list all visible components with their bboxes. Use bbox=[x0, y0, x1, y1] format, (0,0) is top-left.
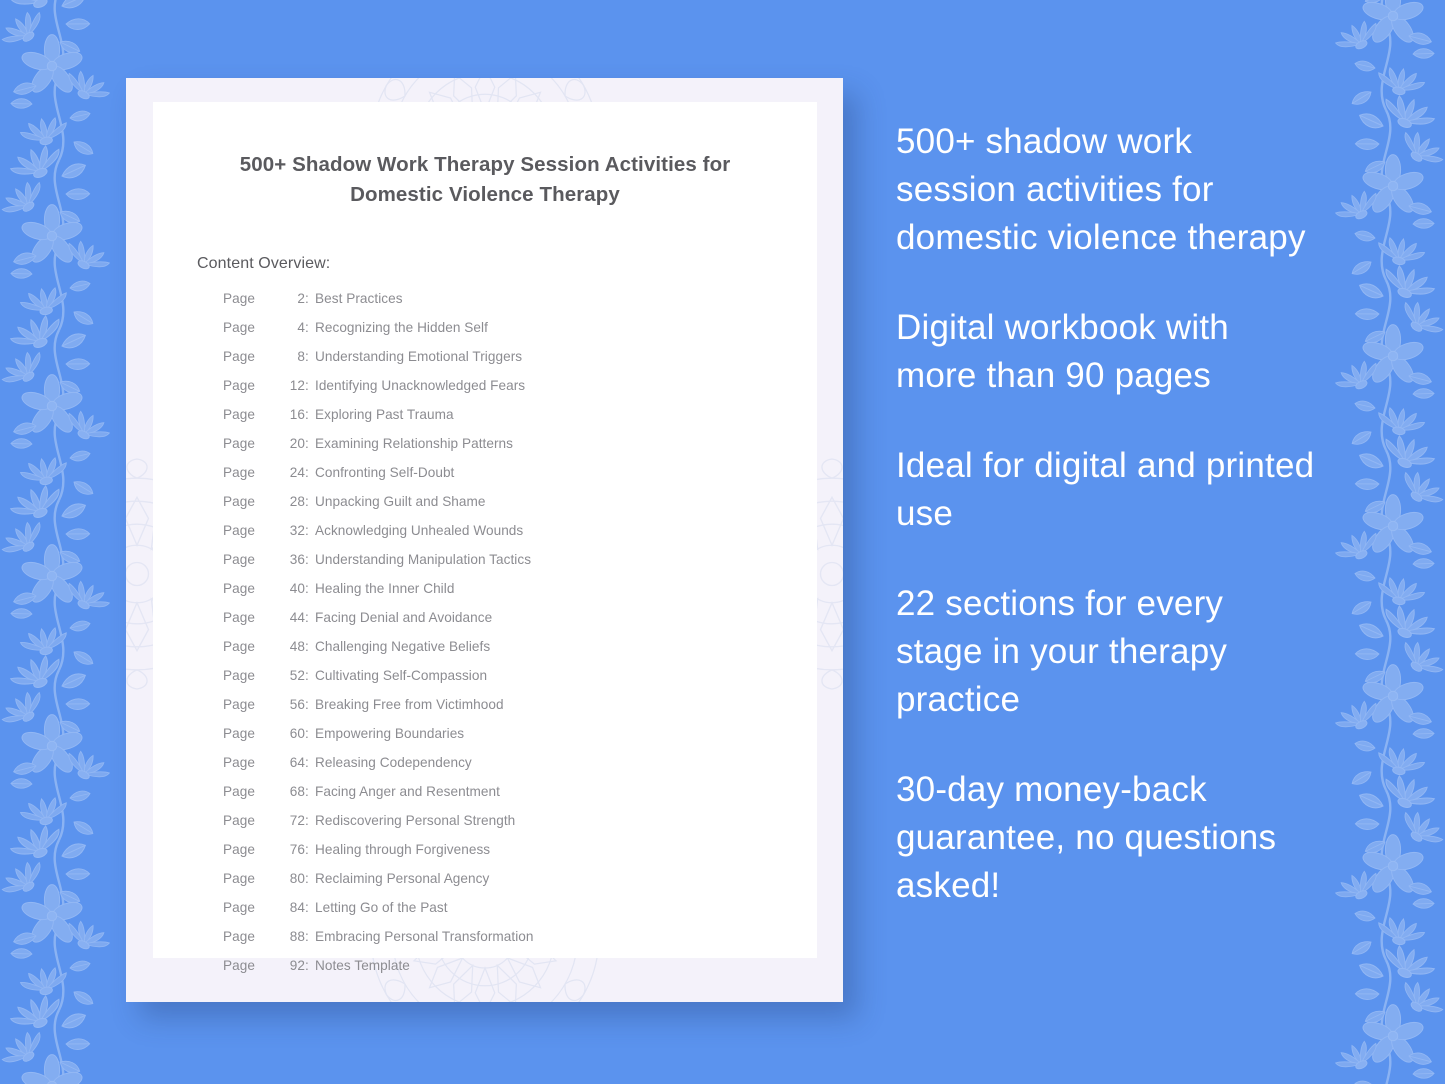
toc-entry-title: Understanding Emotional Triggers bbox=[315, 349, 522, 364]
toc-row: Page92:Notes Template bbox=[223, 958, 817, 987]
toc-row: Page64:Releasing Codependency bbox=[223, 755, 817, 784]
toc-row: Page28:Unpacking Guilt and Shame bbox=[223, 494, 817, 523]
floral-vine-border-left bbox=[0, 0, 118, 1084]
toc-page-number: 32 bbox=[281, 523, 305, 538]
toc-page-word: Page bbox=[223, 668, 281, 683]
toc-page-number: 88 bbox=[281, 929, 305, 944]
toc-row: Page12:Identifying Unacknowledged Fears bbox=[223, 378, 817, 407]
toc-entry-title: Breaking Free from Victimhood bbox=[315, 697, 504, 712]
toc-colon: : bbox=[305, 697, 315, 712]
toc-page-number: 20 bbox=[281, 436, 305, 451]
toc-page-number: 36 bbox=[281, 552, 305, 567]
toc-page-number: 52 bbox=[281, 668, 305, 683]
toc-page-number: 2 bbox=[281, 291, 305, 306]
toc-page-number: 68 bbox=[281, 784, 305, 799]
promo-block: Ideal for digital and printed use bbox=[896, 442, 1316, 538]
toc-colon: : bbox=[305, 581, 315, 596]
toc-entry-title: Rediscovering Personal Strength bbox=[315, 813, 515, 828]
toc-page-word: Page bbox=[223, 697, 281, 712]
content-overview-label: Content Overview: bbox=[197, 255, 817, 273]
promo-block: 22 sections for every stage in your ther… bbox=[896, 580, 1316, 724]
toc-row: Page76:Healing through Forgiveness bbox=[223, 842, 817, 871]
toc-row: Page72:Rediscovering Personal Strength bbox=[223, 813, 817, 842]
toc-entry-title: Notes Template bbox=[315, 958, 410, 973]
toc-colon: : bbox=[305, 436, 315, 451]
toc-row: Page8:Understanding Emotional Triggers bbox=[223, 349, 817, 378]
toc-page-number: 72 bbox=[281, 813, 305, 828]
toc-colon: : bbox=[305, 813, 315, 828]
toc-entry-title: Facing Denial and Avoidance bbox=[315, 610, 492, 625]
toc-row: Page36:Understanding Manipulation Tactic… bbox=[223, 552, 817, 581]
promo-block: 500+ shadow work session activities for … bbox=[896, 118, 1316, 262]
toc-row: Page32:Acknowledging Unhealed Wounds bbox=[223, 523, 817, 552]
toc-colon: : bbox=[305, 407, 315, 422]
toc-entry-title: Acknowledging Unhealed Wounds bbox=[315, 523, 523, 538]
promo-block: Digital workbook with more than 90 pages bbox=[896, 304, 1316, 400]
toc-colon: : bbox=[305, 900, 315, 915]
toc-colon: : bbox=[305, 639, 315, 654]
toc-page-word: Page bbox=[223, 349, 281, 364]
toc-row: Page2:Best Practices bbox=[223, 291, 817, 320]
toc-page-word: Page bbox=[223, 436, 281, 451]
toc-entry-title: Letting Go of the Past bbox=[315, 900, 448, 915]
toc-colon: : bbox=[305, 320, 315, 335]
toc-entry-title: Facing Anger and Resentment bbox=[315, 784, 500, 799]
toc-colon: : bbox=[305, 842, 315, 857]
toc-page-number: 48 bbox=[281, 639, 305, 654]
toc-colon: : bbox=[305, 929, 315, 944]
table-of-contents: Page2:Best PracticesPage4:Recognizing th… bbox=[223, 291, 817, 987]
promo-block: 30-day money-back guarantee, no question… bbox=[896, 766, 1316, 910]
toc-page-number: 56 bbox=[281, 697, 305, 712]
toc-row: Page68:Facing Anger and Resentment bbox=[223, 784, 817, 813]
toc-page-number: 80 bbox=[281, 871, 305, 886]
toc-page-word: Page bbox=[223, 784, 281, 799]
toc-row: Page16:Exploring Past Trauma bbox=[223, 407, 817, 436]
promo-column: 500+ shadow work session activities for … bbox=[896, 118, 1316, 910]
toc-page-word: Page bbox=[223, 755, 281, 770]
toc-colon: : bbox=[305, 958, 315, 973]
toc-entry-title: Confronting Self-Doubt bbox=[315, 465, 454, 480]
toc-page-number: 44 bbox=[281, 610, 305, 625]
toc-entry-title: Healing the Inner Child bbox=[315, 581, 454, 596]
toc-entry-title: Cultivating Self-Compassion bbox=[315, 668, 487, 683]
toc-page-word: Page bbox=[223, 581, 281, 596]
toc-colon: : bbox=[305, 465, 315, 480]
toc-page-number: 92 bbox=[281, 958, 305, 973]
toc-page-word: Page bbox=[223, 871, 281, 886]
toc-page-number: 76 bbox=[281, 842, 305, 857]
toc-entry-title: Empowering Boundaries bbox=[315, 726, 464, 741]
toc-entry-title: Best Practices bbox=[315, 291, 403, 306]
toc-page-word: Page bbox=[223, 552, 281, 567]
toc-row: Page52:Cultivating Self-Compassion bbox=[223, 668, 817, 697]
toc-entry-title: Releasing Codependency bbox=[315, 755, 472, 770]
toc-colon: : bbox=[305, 349, 315, 364]
toc-colon: : bbox=[305, 755, 315, 770]
toc-page-number: 28 bbox=[281, 494, 305, 509]
toc-row: Page80:Reclaiming Personal Agency bbox=[223, 871, 817, 900]
toc-colon: : bbox=[305, 726, 315, 741]
toc-colon: : bbox=[305, 291, 315, 306]
toc-entry-title: Reclaiming Personal Agency bbox=[315, 871, 489, 886]
toc-page-word: Page bbox=[223, 291, 281, 306]
toc-entry-title: Challenging Negative Beliefs bbox=[315, 639, 490, 654]
toc-page-word: Page bbox=[223, 523, 281, 538]
toc-row: Page84:Letting Go of the Past bbox=[223, 900, 817, 929]
toc-colon: : bbox=[305, 871, 315, 886]
toc-row: Page40:Healing the Inner Child bbox=[223, 581, 817, 610]
toc-colon: : bbox=[305, 494, 315, 509]
toc-page-number: 4 bbox=[281, 320, 305, 335]
toc-page-number: 84 bbox=[281, 900, 305, 915]
toc-entry-title: Identifying Unacknowledged Fears bbox=[315, 378, 525, 393]
toc-colon: : bbox=[305, 552, 315, 567]
toc-page-number: 8 bbox=[281, 349, 305, 364]
toc-entry-title: Recognizing the Hidden Self bbox=[315, 320, 488, 335]
toc-entry-title: Healing through Forgiveness bbox=[315, 842, 490, 857]
toc-entry-title: Unpacking Guilt and Shame bbox=[315, 494, 486, 509]
toc-page-word: Page bbox=[223, 900, 281, 915]
toc-row: Page44:Facing Denial and Avoidance bbox=[223, 610, 817, 639]
toc-page-number: 40 bbox=[281, 581, 305, 596]
toc-colon: : bbox=[305, 784, 315, 799]
toc-page-word: Page bbox=[223, 378, 281, 393]
toc-page-word: Page bbox=[223, 610, 281, 625]
toc-row: Page88:Embracing Personal Transformation bbox=[223, 929, 817, 958]
floral-vine-border-right bbox=[1327, 0, 1445, 1084]
toc-row: Page4:Recognizing the Hidden Self bbox=[223, 320, 817, 349]
toc-row: Page56:Breaking Free from Victimhood bbox=[223, 697, 817, 726]
toc-colon: : bbox=[305, 610, 315, 625]
toc-page-word: Page bbox=[223, 958, 281, 973]
toc-entry-title: Exploring Past Trauma bbox=[315, 407, 454, 422]
toc-page-word: Page bbox=[223, 639, 281, 654]
toc-page-number: 60 bbox=[281, 726, 305, 741]
toc-colon: : bbox=[305, 523, 315, 538]
toc-row: Page48:Challenging Negative Beliefs bbox=[223, 639, 817, 668]
toc-page-number: 16 bbox=[281, 407, 305, 422]
toc-row: Page20:Examining Relationship Patterns bbox=[223, 436, 817, 465]
toc-row: Page24:Confronting Self-Doubt bbox=[223, 465, 817, 494]
toc-page-number: 64 bbox=[281, 755, 305, 770]
toc-colon: : bbox=[305, 668, 315, 683]
toc-page-word: Page bbox=[223, 465, 281, 480]
toc-row: Page60:Empowering Boundaries bbox=[223, 726, 817, 755]
toc-colon: : bbox=[305, 378, 315, 393]
toc-page-word: Page bbox=[223, 929, 281, 944]
toc-page-number: 12 bbox=[281, 378, 305, 393]
toc-page-word: Page bbox=[223, 494, 281, 509]
toc-page-word: Page bbox=[223, 726, 281, 741]
document-card: 500+ Shadow Work Therapy Session Activit… bbox=[126, 78, 843, 1002]
toc-page-word: Page bbox=[223, 842, 281, 857]
toc-page-number: 24 bbox=[281, 465, 305, 480]
toc-entry-title: Embracing Personal Transformation bbox=[315, 929, 534, 944]
page-title: 500+ Shadow Work Therapy Session Activit… bbox=[193, 150, 777, 210]
document-page: 500+ Shadow Work Therapy Session Activit… bbox=[153, 102, 817, 958]
toc-page-word: Page bbox=[223, 407, 281, 422]
toc-entry-title: Understanding Manipulation Tactics bbox=[315, 552, 531, 567]
toc-page-word: Page bbox=[223, 813, 281, 828]
toc-entry-title: Examining Relationship Patterns bbox=[315, 436, 513, 451]
toc-page-word: Page bbox=[223, 320, 281, 335]
